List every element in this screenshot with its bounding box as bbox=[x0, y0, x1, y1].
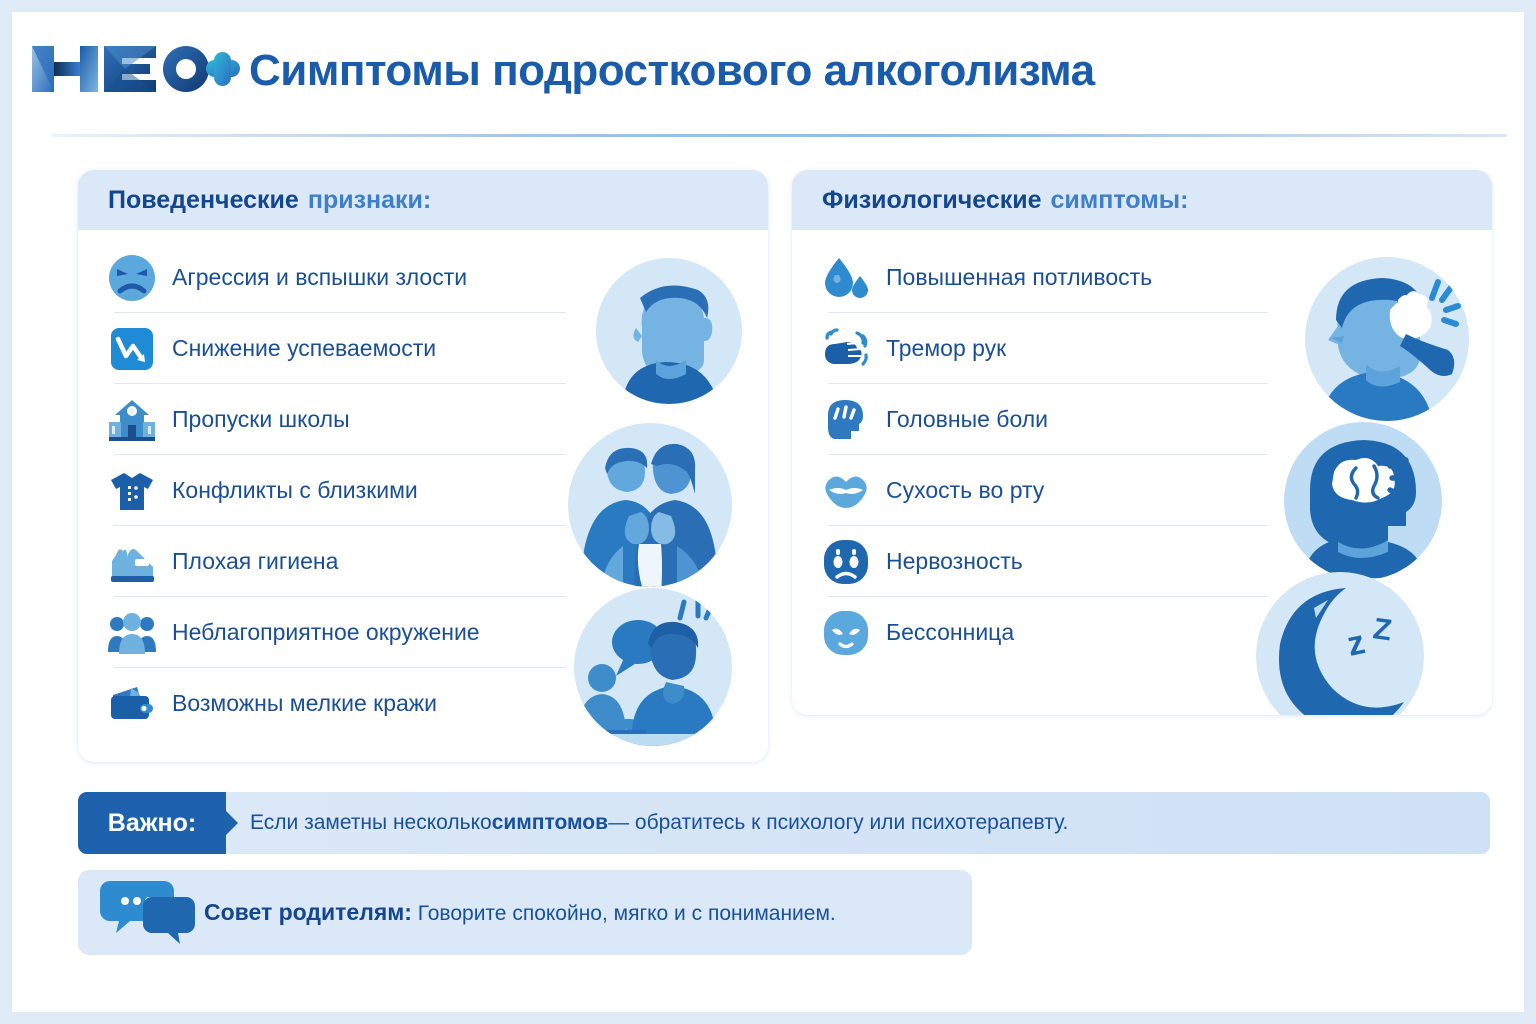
physiological-symptoms-card: Физиологические симптомы: Повышенная пот… bbox=[792, 170, 1492, 715]
water-drops-icon bbox=[820, 252, 872, 304]
tshirt-icon bbox=[106, 465, 158, 517]
headache-person-illustration bbox=[1302, 254, 1472, 429]
moon-sleep-illustration: z Z bbox=[1254, 570, 1426, 715]
important-text: Если заметны несколько симптомов — обрат… bbox=[250, 792, 1068, 854]
list-item-label: Агрессия и вспышки злости bbox=[172, 264, 467, 291]
important-text-bold: симптомов bbox=[492, 811, 608, 835]
list-item-label: Нервозность bbox=[886, 548, 1023, 575]
shaking-hand-icon bbox=[820, 323, 872, 375]
advice-body: Говорите спокойно, мягко и с пониманием. bbox=[412, 902, 836, 925]
wallet-icon bbox=[106, 678, 158, 730]
behavioral-card-header: Поведенческие признаки: bbox=[78, 170, 768, 230]
list-item-label: Снижение успеваемости bbox=[172, 335, 436, 362]
speech-bubbles-icon bbox=[100, 875, 196, 950]
list-item-label: Плохая гигиена bbox=[172, 548, 338, 575]
list-item-label: Сухость во рту bbox=[886, 477, 1044, 504]
arguing-couple-illustration bbox=[565, 420, 735, 595]
people-group-icon bbox=[106, 607, 158, 659]
worried-face-icon bbox=[820, 536, 872, 588]
list-item-label: Головные боли bbox=[886, 406, 1048, 433]
list-item-label: Неблагоприятное окружение bbox=[172, 619, 480, 646]
list-item-label: Тремор рук bbox=[886, 335, 1006, 362]
physiological-card-header: Физиологические симптомы: bbox=[792, 170, 1492, 230]
behavioral-heading-light: признаки: bbox=[308, 186, 431, 215]
important-badge: Важно: bbox=[78, 792, 226, 854]
important-arrow-icon bbox=[226, 811, 238, 835]
advice-label: Совет родителям: bbox=[204, 899, 412, 925]
trash-bag-icon bbox=[106, 536, 158, 588]
list-item-label: Возможны мелкие кражи bbox=[172, 690, 437, 717]
list-item-label: Пропуски школы bbox=[172, 406, 350, 433]
list-item-label: Бессонница bbox=[886, 619, 1014, 646]
important-text-before: Если заметны несколько bbox=[250, 811, 492, 835]
header: Симптомы подросткового алкоголизма bbox=[12, 12, 1524, 134]
advice-text: Совет родителям: Говорите спокойно, мягк… bbox=[204, 899, 836, 926]
list-item-label: Конфликты с близкими bbox=[172, 477, 418, 504]
chart-down-icon bbox=[106, 323, 158, 375]
important-badge-label: Важно: bbox=[108, 809, 196, 838]
behavioral-signs-card: Поведенческие признаки: Агрессия и вспыш… bbox=[78, 170, 768, 762]
tired-face-icon bbox=[820, 607, 872, 659]
behavioral-heading-strong: Поведенческие bbox=[108, 186, 299, 215]
angry-face-icon bbox=[106, 252, 158, 304]
parents-advice-box: Совет родителям: Говорите спокойно, мягк… bbox=[78, 870, 972, 955]
physiological-heading-light: симптомы: bbox=[1051, 186, 1189, 215]
brain-head-illustration bbox=[1282, 420, 1444, 587]
important-text-after: — обратитесь к психологу или психотерапе… bbox=[608, 811, 1068, 835]
infographic-page: Симптомы подросткового алкоголизма Повед… bbox=[12, 12, 1524, 1012]
school-building-icon bbox=[106, 394, 158, 446]
neo-plus-logo-icon bbox=[30, 38, 242, 100]
teen-portrait-illustration bbox=[594, 256, 744, 411]
conversation-conflict-illustration bbox=[572, 586, 734, 753]
physiological-heading-strong: Физиологические bbox=[822, 186, 1042, 215]
page-title: Симптомы подросткового алкоголизма bbox=[249, 46, 1095, 96]
head-pain-icon bbox=[820, 394, 872, 446]
lips-icon bbox=[820, 465, 872, 517]
header-divider bbox=[52, 134, 1507, 137]
important-banner: Важно: Если заметны несколько симптомов … bbox=[78, 792, 1490, 854]
list-item-label: Повышенная потливость bbox=[886, 264, 1152, 291]
